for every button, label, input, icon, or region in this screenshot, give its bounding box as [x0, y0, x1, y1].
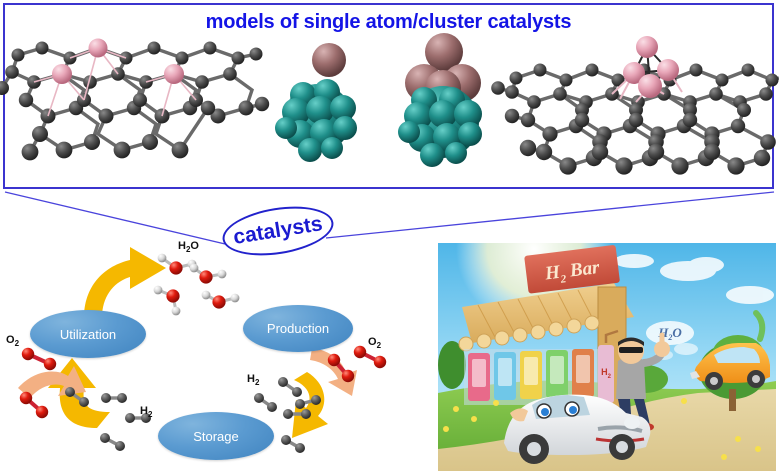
o2-left-main: O	[6, 334, 15, 346]
cycle-node-production[interactable]: Production	[243, 305, 353, 352]
catalysts-label: catalysts	[219, 200, 337, 263]
h2o-main: H	[178, 240, 186, 252]
h2-left-main: H	[140, 405, 148, 417]
hydrogen-station-illustration: H2 H2 Bar H2O	[438, 243, 776, 471]
cycle-node-storage[interactable]: Storage	[158, 412, 274, 460]
species-label-o2-left: O2	[6, 334, 19, 348]
exhaust-tail: O	[672, 325, 682, 340]
arrow-storage-to-utilization	[48, 358, 110, 428]
cycle-node-utilization[interactable]: Utilization	[30, 310, 146, 358]
species-label-h2o: H2O	[178, 240, 199, 254]
h2-right-sub: 2	[255, 378, 259, 387]
oxygen-molecules-left	[20, 348, 56, 418]
callout-connector-lines	[5, 192, 774, 248]
models-panel-title: models of single atom/cluster catalysts	[5, 11, 772, 34]
species-label-h2-right: H2	[247, 373, 259, 387]
h2-left-sub: 2	[148, 410, 152, 419]
o2-right-sub: 2	[377, 341, 381, 350]
species-label-o2-right: O2	[368, 336, 381, 350]
photo-graphics: H2 H2 Bar H2O	[438, 243, 776, 471]
fuel-dispensers	[468, 349, 594, 401]
models-panel: models of single atom/cluster catalysts	[3, 3, 774, 189]
water-molecules	[154, 254, 240, 316]
arrow-o2-byproduct-right	[310, 348, 357, 396]
h2-right-main: H	[247, 373, 255, 385]
cycle-node-utilization-label: Utilization	[60, 327, 116, 342]
oxygen-molecules-right	[328, 346, 386, 382]
h2o-tail: O	[190, 240, 199, 252]
o2-right-main: O	[368, 336, 377, 348]
catalysts-callout: catalysts	[219, 200, 337, 263]
o2-left-sub: 2	[15, 339, 19, 348]
species-label-h2-left: H2	[140, 405, 152, 419]
figure-root: models of single atom/cluster catalysts	[0, 0, 779, 474]
cycle-node-storage-label: Storage	[193, 429, 239, 444]
arrow-o2-byproduct-left	[18, 366, 86, 398]
sign-text-tail: Bar	[564, 257, 601, 282]
cycle-node-production-label: Production	[267, 321, 329, 336]
arrow-production-to-storage	[292, 372, 328, 438]
arrow-utilization-to-production	[84, 247, 166, 318]
